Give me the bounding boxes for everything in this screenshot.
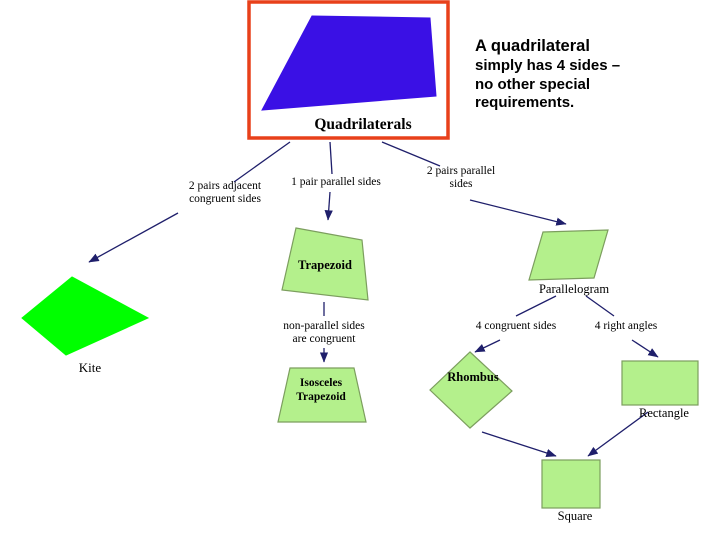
edge-label-two-pairs-parallel-sides: 2 pairs parallel sides: [412, 165, 510, 191]
edge-label-four-congruent-sides: 4 congruent sides: [462, 320, 570, 333]
shape-rectangle: [622, 361, 698, 405]
shape-rhombus: [430, 352, 512, 428]
shape-kite: [22, 277, 148, 355]
node-label-quadrilaterals: Quadrilaterals: [278, 116, 448, 134]
edge-twopairs-to-parallelogram: [470, 200, 566, 224]
edge-label-adjacent-congruent-sides: 2 pairs adjacent congruent sides: [172, 180, 278, 206]
edge-onepair-to-trapezoid: [328, 192, 330, 220]
shape-parallelogram: [529, 230, 608, 280]
edge-rhombus-to-square: [482, 432, 556, 456]
callout-text-block: A quadrilateral simply has 4 sides – no …: [475, 36, 635, 113]
edge-root-to-kite: [234, 142, 290, 182]
node-label-isosceles-trapezoid: Isosceles Trapezoid: [278, 376, 364, 405]
callout-lead: A quadrilateral: [475, 37, 590, 55]
edge-label-one-pair-parallel-sides: 1 pair parallel sides: [284, 176, 388, 189]
edge-adjacent-to-kite: [89, 213, 178, 262]
node-label-trapezoid: Trapezoid: [288, 258, 362, 273]
edge-label-nonparallel-sides-congruent: non-parallel sides are congruent: [266, 320, 382, 346]
node-label-parallelogram: Parallelogram: [524, 282, 624, 297]
node-label-kite: Kite: [60, 360, 120, 376]
node-label-rhombus: Rhombus: [436, 370, 510, 385]
callout-body: simply has 4 sides – no other special re…: [475, 57, 620, 112]
edge-rightangles-to-rectangle: [632, 340, 658, 357]
diagram-page: A quadrilateral simply has 4 sides – no …: [0, 0, 720, 540]
node-label-rectangle: Rectangle: [627, 406, 701, 421]
edge-label-four-right-angles: 4 right angles: [584, 320, 668, 333]
edge-root-to-twopairs: [382, 142, 440, 166]
edge-parallelogram-to-congruent: [516, 296, 556, 316]
shape-square: [542, 460, 600, 508]
edge-congruent-to-rhombus: [475, 340, 500, 352]
edge-root-to-onepair: [330, 142, 332, 174]
node-label-square: Square: [545, 509, 605, 524]
edge-parallelogram-to-rightangles: [586, 296, 614, 316]
